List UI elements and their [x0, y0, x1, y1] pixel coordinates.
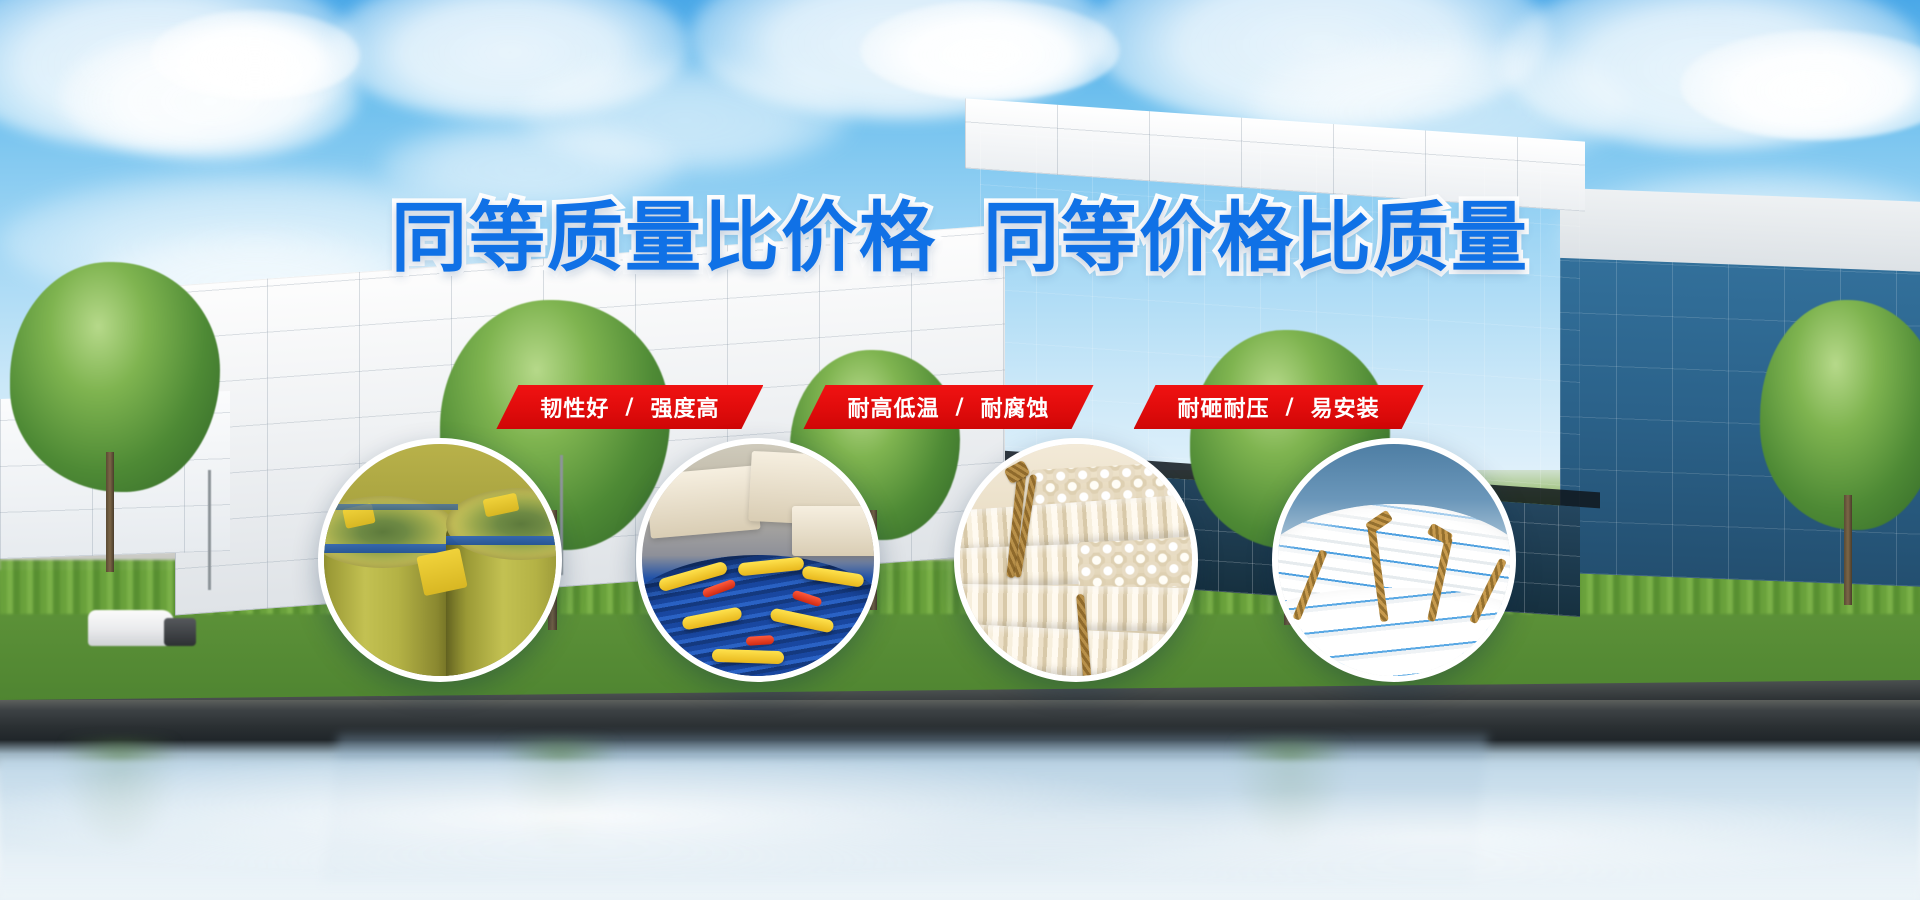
ribbon-separator: /: [609, 395, 650, 420]
ribbon-label-right: 强度高: [650, 391, 719, 423]
product-image-coiled-white-pipe: [1278, 444, 1510, 676]
feature-ribbon-list: 韧性好 / 强度高 耐高低温 / 耐腐蚀 耐砸耐压 / 易安装: [0, 385, 1920, 429]
product-circle-olive-hose-rolls[interactable]: [318, 438, 562, 682]
ribbon-label-left: 韧性好: [540, 391, 609, 423]
product-circle-coiled-white-pipe[interactable]: [1272, 438, 1516, 682]
product-circle-layflat-hose[interactable]: [636, 438, 880, 682]
product-circle-list: [0, 430, 1920, 710]
ribbon-label-left: 耐砸耐压: [1178, 391, 1270, 423]
product-image-layflat-hose: [642, 444, 874, 676]
feature-ribbon[interactable]: 韧性好 / 强度高: [496, 385, 763, 429]
headline-part-1: 同等质量比价格: [391, 193, 937, 282]
hero-banner: 同等质量比价格同等价格比质量 韧性好 / 强度高 耐高低温 / 耐腐蚀 耐砸耐压…: [0, 0, 1920, 900]
feature-ribbon[interactable]: 耐砸耐压 / 易安装: [1134, 385, 1424, 429]
ribbon-label-left: 耐高低温: [847, 391, 939, 423]
ribbon-label-right: 耐腐蚀: [981, 391, 1050, 423]
feature-ribbon[interactable]: 耐高低温 / 耐腐蚀: [803, 385, 1093, 429]
water-sheen: [0, 760, 1920, 900]
ribbon-label-right: 易安装: [1311, 391, 1380, 423]
headline-part-2: 同等价格比质量: [983, 193, 1529, 282]
ribbon-separator: /: [939, 395, 980, 420]
product-image-pe-pipe-bundles: [960, 444, 1192, 676]
product-image-olive-hose-rolls: [324, 444, 556, 676]
page-title: 同等质量比价格同等价格比质量: [0, 200, 1920, 276]
ribbon-separator: /: [1270, 395, 1311, 420]
product-circle-pe-pipe-bundles[interactable]: [954, 438, 1198, 682]
